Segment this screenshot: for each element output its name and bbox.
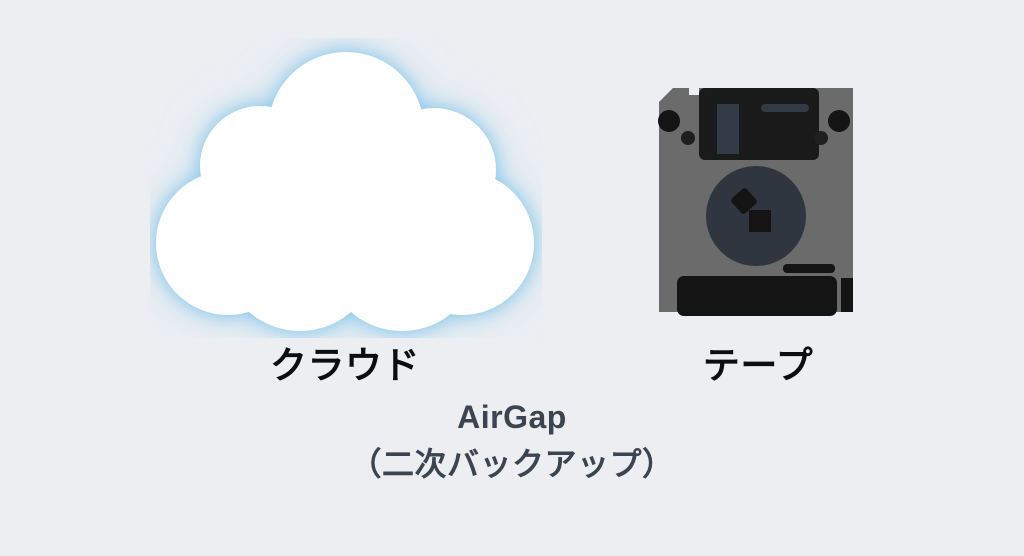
cloud-node[interactable] <box>150 38 542 338</box>
airgap-caption-primary: AirGap <box>312 400 712 435</box>
diagram-canvas: クラウド テープ AirGap （二次バックアップ） <box>0 0 1024 556</box>
airgap-caption-secondary: （二次バックアップ） <box>262 447 762 482</box>
cloud-label: クラウド <box>195 346 495 387</box>
tape-node[interactable] <box>655 86 861 316</box>
floppy-disk-icon <box>655 86 861 316</box>
cloud-icon <box>150 38 542 338</box>
tape-label: テープ <box>633 346 883 387</box>
